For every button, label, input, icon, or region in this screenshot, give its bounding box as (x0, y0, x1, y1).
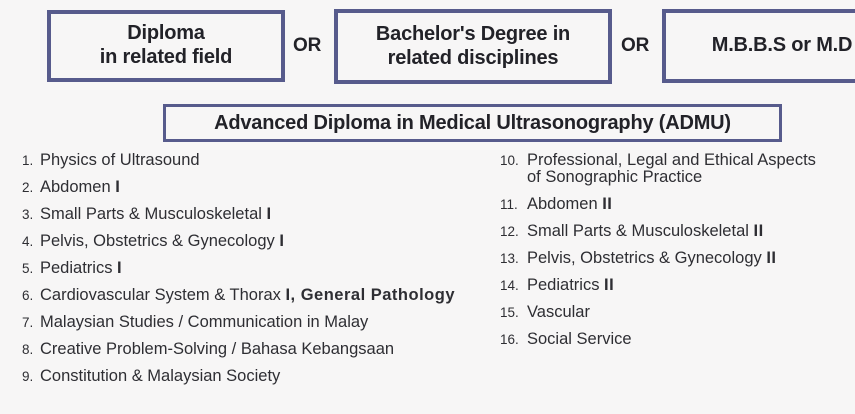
subject-name: Social Service (527, 331, 850, 348)
subject-list: 1.Physics of Ultrasound2.Abdomen I3.Smal… (0, 152, 855, 414)
subject-level-numeral: I (115, 178, 120, 196)
subject-column-right: 10.Professional, Legal and Ethical Aspec… (500, 152, 850, 358)
qualification-box-mbbs: M.B.B.S or M.D (662, 9, 855, 83)
subject-item: 8.Creative Problem-Solving / Bahasa Keba… (22, 341, 502, 358)
subject-name-text: Cardiovascular System & Thorax (40, 286, 285, 304)
subject-name-text: Pediatrics (40, 259, 117, 277)
qualification-box-diploma: Diploma in related field (47, 10, 285, 82)
subject-number: 16. (500, 333, 522, 347)
subject-item: 9.Constitution & Malaysian Society (22, 368, 502, 385)
subject-number: 1. (22, 154, 35, 168)
subject-level-numeral: II (766, 249, 776, 267)
subject-name-text: Professional, Legal and Ethical Aspects … (527, 151, 816, 186)
subject-item: 12.Small Parts & Musculoskeletal II (500, 223, 850, 240)
subject-number: 6. (22, 289, 35, 303)
subject-name-text: Pelvis, Obstetrics & Gynecology (40, 232, 279, 250)
subject-name: Small Parts & Musculoskeletal II (527, 223, 850, 240)
subject-column-left: 1.Physics of Ultrasound2.Abdomen I3.Smal… (22, 152, 502, 395)
subject-number: 8. (22, 343, 35, 357)
subject-name: Small Parts & Musculoskeletal I (40, 206, 502, 223)
or-connector-2: OR (621, 35, 649, 57)
subject-number: 15. (500, 306, 522, 320)
subject-item: 16.Social Service (500, 331, 850, 348)
subject-name-text: Creative Problem-Solving / Bahasa Kebang… (40, 340, 394, 358)
subject-item: 11.Abdomen II (500, 196, 850, 213)
subject-item: 2.Abdomen I (22, 179, 502, 196)
subject-name: Cardiovascular System & Thorax I, Genera… (40, 287, 502, 304)
subject-item: 15.Vascular (500, 304, 850, 321)
or-connector-1: OR (293, 35, 321, 57)
qualification-label-diploma: Diploma in related field (90, 22, 242, 69)
subject-item: 10.Professional, Legal and Ethical Aspec… (500, 152, 850, 185)
subject-level-numeral: I, General Pathology (285, 286, 455, 304)
subject-level-numeral: II (754, 222, 764, 240)
subject-name-text: Social Service (527, 330, 632, 348)
subject-number: 13. (500, 252, 522, 266)
subject-level-numeral: I (117, 259, 122, 277)
subject-item: 7.Malaysian Studies / Communication in M… (22, 314, 502, 331)
subject-number: 11. (500, 198, 522, 212)
qualification-label-bachelor: Bachelor's Degree in related disciplines (366, 23, 580, 70)
subject-name-text: Abdomen (527, 195, 602, 213)
subject-number: 10. (500, 154, 522, 168)
program-title-box: Advanced Diploma in Medical Ultrasonogra… (163, 104, 782, 142)
subject-name: Physics of Ultrasound (40, 152, 502, 169)
program-title: Advanced Diploma in Medical Ultrasonogra… (214, 112, 731, 135)
subject-item: 14.Pediatrics II (500, 277, 850, 294)
subject-name-text: Pediatrics (527, 276, 604, 294)
subject-number: 5. (22, 262, 35, 276)
subject-name: Constitution & Malaysian Society (40, 368, 502, 385)
subject-name: Malaysian Studies / Communication in Mal… (40, 314, 502, 331)
subject-number: 7. (22, 316, 35, 330)
subject-number: 9. (22, 370, 35, 384)
subject-level-numeral: II (604, 276, 614, 294)
subject-name-text: Small Parts & Musculoskeletal (40, 205, 267, 223)
subject-item: 13.Pelvis, Obstetrics & Gynecology II (500, 250, 850, 267)
subject-name: Creative Problem-Solving / Bahasa Kebang… (40, 341, 502, 358)
subject-name-text: Constitution & Malaysian Society (40, 367, 280, 385)
subject-number: 4. (22, 235, 35, 249)
subject-number: 3. (22, 208, 35, 222)
subject-number: 14. (500, 279, 522, 293)
subject-name-text: Vascular (527, 303, 590, 321)
subject-name-text: Pelvis, Obstetrics & Gynecology (527, 249, 766, 267)
subject-number: 2. (22, 181, 35, 195)
subject-level-numeral: I (267, 205, 272, 223)
subject-name-text: Malaysian Studies / Communication in Mal… (40, 313, 368, 331)
subject-item: 1.Physics of Ultrasound (22, 152, 502, 169)
subject-name-text: Small Parts & Musculoskeletal (527, 222, 754, 240)
subject-name-text: Abdomen (40, 178, 115, 196)
subject-item: 6.Cardiovascular System & Thorax I, Gene… (22, 287, 502, 304)
subject-name-text: Physics of Ultrasound (40, 151, 200, 169)
subject-level-numeral: I (279, 232, 284, 250)
subject-item: 3.Small Parts & Musculoskeletal I (22, 206, 502, 223)
subject-item: 5.Pediatrics I (22, 260, 502, 277)
qualification-row: Diploma in related field OR Bachelor's D… (0, 0, 855, 95)
subject-name: Pediatrics II (527, 277, 850, 294)
subject-level-numeral: II (602, 195, 612, 213)
subject-name: Vascular (527, 304, 850, 321)
qualification-box-bachelor: Bachelor's Degree in related disciplines (334, 9, 612, 84)
subject-item: 4.Pelvis, Obstetrics & Gynecology I (22, 233, 502, 250)
subject-name: Professional, Legal and Ethical Aspects … (527, 152, 850, 185)
subject-number: 12. (500, 225, 522, 239)
subject-name: Pelvis, Obstetrics & Gynecology I (40, 233, 502, 250)
subject-name: Pelvis, Obstetrics & Gynecology II (527, 250, 850, 267)
subject-name: Pediatrics I (40, 260, 502, 277)
subject-name: Abdomen II (527, 196, 850, 213)
qualification-label-mbbs: M.B.B.S or M.D (702, 34, 855, 58)
subject-name: Abdomen I (40, 179, 502, 196)
